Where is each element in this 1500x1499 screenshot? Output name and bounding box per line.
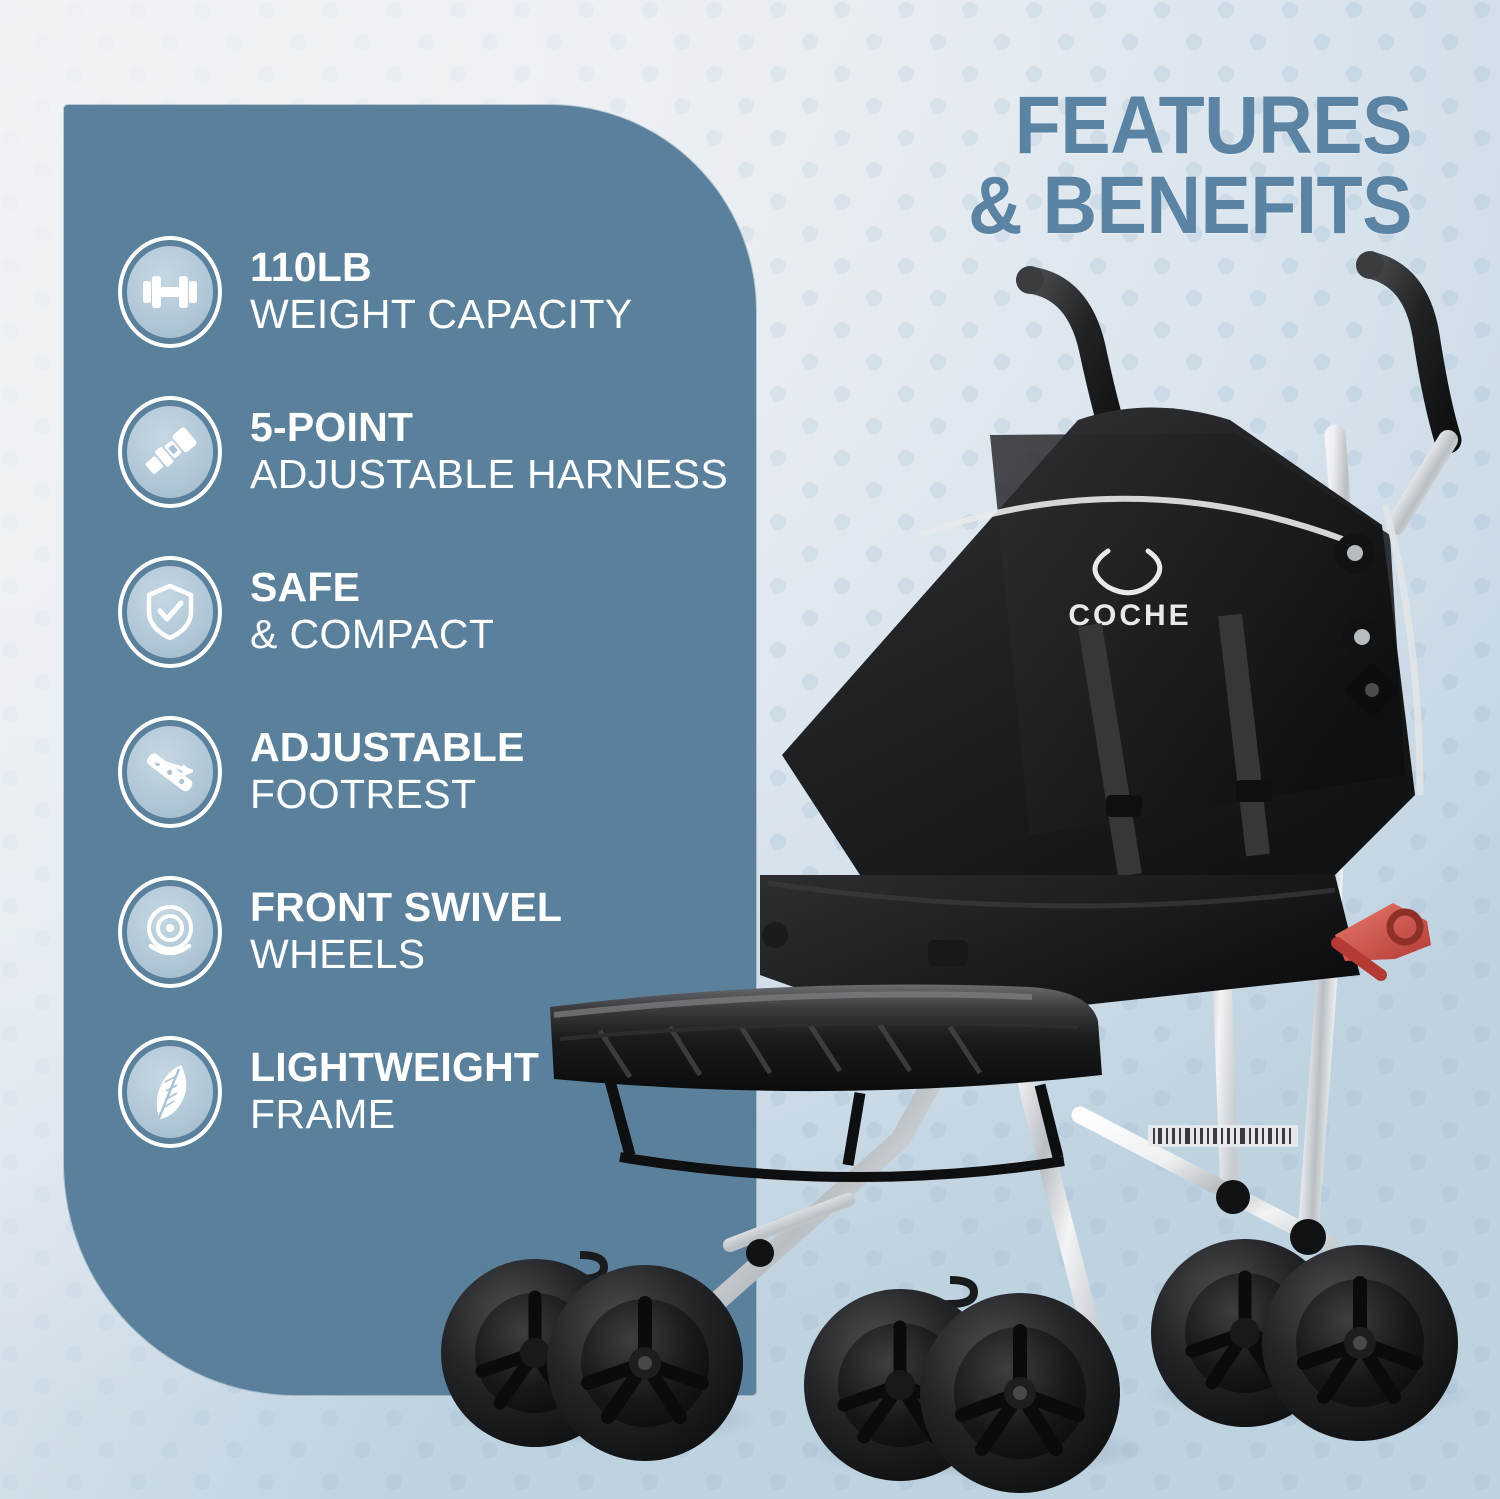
feature-text: SAFE & COMPACT bbox=[250, 566, 758, 657]
icon-glyph bbox=[118, 1036, 222, 1148]
icon-glyph bbox=[118, 876, 222, 988]
seatbelt-icon bbox=[118, 396, 222, 508]
icon-glyph bbox=[118, 396, 222, 508]
feature-item-safe-compact: SAFE & COMPACT bbox=[118, 532, 758, 692]
feature-text: 5-POINT ADJUSTABLE HARNESS bbox=[250, 406, 758, 497]
icon-glyph bbox=[118, 236, 222, 348]
feature-item-weight-capacity: 110LB WEIGHT CAPACITY bbox=[118, 212, 758, 372]
title-line-2: & BENEFITS bbox=[805, 166, 1412, 246]
feature-sub: ADJUSTABLE HARNESS bbox=[250, 452, 758, 498]
feature-item-swivel-wheels: FRONT SWIVEL WHEELS bbox=[118, 852, 758, 1012]
footrest-icon bbox=[118, 716, 222, 828]
shield-check-icon bbox=[118, 556, 222, 668]
feature-list: 110LB WEIGHT CAPACITY bbox=[118, 212, 758, 1172]
infographic-canvas: COCHE bbox=[0, 0, 1500, 1499]
feature-headline: 110LB bbox=[250, 246, 758, 289]
feature-item-harness: 5-POINT ADJUSTABLE HARNESS bbox=[118, 372, 758, 532]
feature-sub: & COMPACT bbox=[250, 612, 758, 658]
feature-headline: 5-POINT bbox=[250, 406, 758, 449]
feature-sub: WEIGHT CAPACITY bbox=[250, 292, 758, 338]
feature-item-footrest: ADJUSTABLE FOOTREST bbox=[118, 692, 758, 852]
feature-sub: FOOTREST bbox=[250, 772, 758, 818]
feature-text: LIGHTWEIGHT FRAME bbox=[250, 1046, 758, 1137]
feature-sub: FRAME bbox=[250, 1092, 758, 1138]
feature-text: ADJUSTABLE FOOTREST bbox=[250, 726, 758, 817]
feature-item-lightweight-frame: LIGHTWEIGHT FRAME bbox=[118, 1012, 758, 1172]
swivel-wheel-icon bbox=[118, 876, 222, 988]
icon-glyph bbox=[118, 556, 222, 668]
feature-headline: SAFE bbox=[250, 566, 758, 609]
title-line-1: FEATURES bbox=[805, 86, 1412, 166]
feature-headline: ADJUSTABLE bbox=[250, 726, 758, 769]
feature-text: 110LB WEIGHT CAPACITY bbox=[250, 246, 758, 337]
feather-icon bbox=[118, 1036, 222, 1148]
feature-sub: WHEELS bbox=[250, 932, 758, 978]
feature-headline: LIGHTWEIGHT bbox=[250, 1046, 758, 1089]
feature-headline: FRONT SWIVEL bbox=[250, 886, 758, 929]
page-title: FEATURES & BENEFITS bbox=[805, 86, 1412, 245]
icon-glyph bbox=[118, 716, 222, 828]
dumbbell-icon bbox=[118, 236, 222, 348]
feature-text: FRONT SWIVEL WHEELS bbox=[250, 886, 758, 977]
